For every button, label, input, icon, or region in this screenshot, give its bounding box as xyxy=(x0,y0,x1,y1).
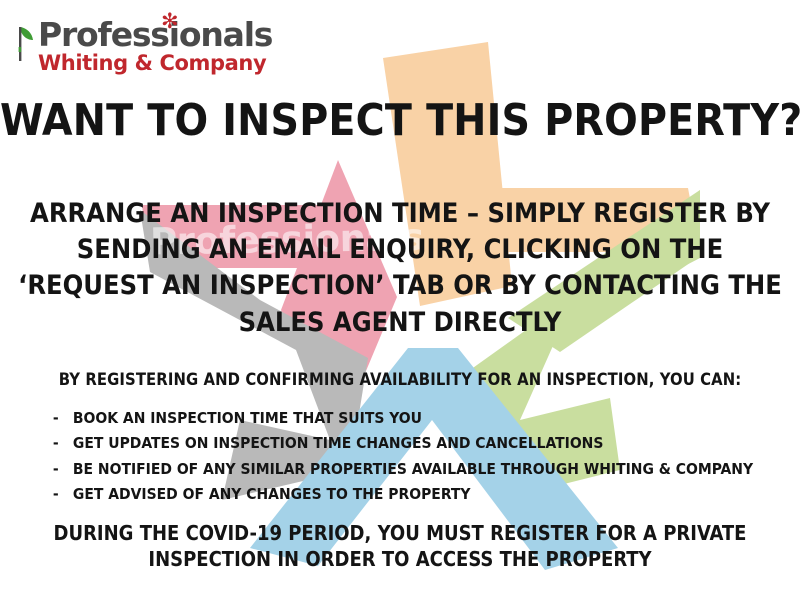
poster-content: Want to inspect this property?? Arrange … xyxy=(0,0,800,600)
page-title: Want to inspect this property?? xyxy=(0,98,800,144)
company-logo: Professionals ✻ Whiting & Company xyxy=(18,18,272,74)
asterisk-icon: ✻ xyxy=(161,11,177,32)
logo-primary-label: Professionals xyxy=(38,15,272,54)
logo-primary-text: Professionals ✻ xyxy=(38,18,272,51)
lead-line-1: Arrange an inspection time – simply regi… xyxy=(0,196,800,232)
list-item: - Be notified of any similar properties … xyxy=(53,457,753,482)
list-item-label: Get advised of any changes to the proper… xyxy=(73,482,471,507)
bullet-dash-icon: - xyxy=(53,431,73,456)
bullet-dash-icon: - xyxy=(53,406,73,431)
list-item: - Get advised of any changes to the prop… xyxy=(53,482,753,507)
closing-line-1: During the COVID-19 period, you must reg… xyxy=(0,520,800,546)
poster-canvas: Professionals Professionals ✻ Whiting & … xyxy=(0,0,800,600)
lead-paragraph: Arrange an inspection time – simply regi… xyxy=(0,196,800,341)
professionals-leaf-icon xyxy=(18,23,35,63)
list-item: - Book an inspection time that suits you xyxy=(53,406,753,431)
lead-line-4: sales agent directly xyxy=(0,305,800,341)
headline-line-1: Want to inspect this property?? xyxy=(0,98,800,144)
bullet-dash-icon: - xyxy=(53,482,73,507)
logo-secondary-text: Whiting & Company xyxy=(38,53,272,74)
closing-line-2: inspection in order to access the proper… xyxy=(0,546,800,572)
list-item-label: Get updates on inspection time changes a… xyxy=(73,431,603,456)
list-item: - Get updates on inspection time changes… xyxy=(53,431,753,456)
logo-wordmark: Professionals ✻ Whiting & Company xyxy=(38,18,272,74)
benefits-list: - Book an inspection time that suits you… xyxy=(0,406,800,508)
closing-notice: During the COVID-19 period, you must reg… xyxy=(0,520,800,572)
list-item-label: Be notified of any similar properties av… xyxy=(73,457,753,482)
bullet-dash-icon: - xyxy=(53,457,73,482)
list-item-label: Book an inspection time that suits you xyxy=(73,406,422,431)
benefits-list-inner: - Book an inspection time that suits you… xyxy=(47,406,753,508)
lead-line-2: sending an email enquiry, clicking on th… xyxy=(0,232,800,268)
lead-line-3: ‘Request an inspection’ tab or by contac… xyxy=(0,268,800,304)
benefits-heading: By registering and confirming availabili… xyxy=(0,370,800,389)
